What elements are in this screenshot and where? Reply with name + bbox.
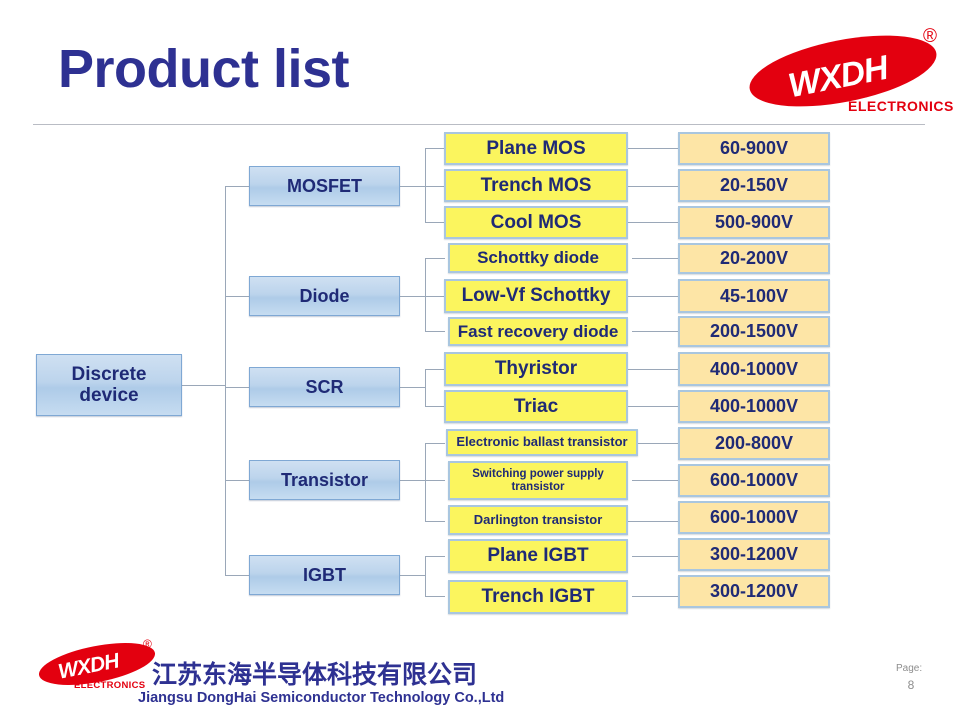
footer-company-name-cn: 江苏东海半导体科技有限公司 (152, 655, 477, 691)
node-product-label: Darlington transistor (474, 513, 603, 528)
connector-leaf-to-voltage-8 (628, 406, 678, 407)
connector-igbt-leaf-2 (425, 596, 445, 597)
node-voltage-schottky-diode[interactable]: 20-200V (678, 243, 830, 274)
node-voltage-label: 500-900V (715, 212, 793, 232)
connector-scr-spine (425, 369, 426, 406)
node-product-label: Thyristor (495, 358, 577, 379)
connector-transistor-leaf-3 (425, 521, 445, 522)
footer-company-name-en: Jiangsu DongHai Semiconductor Technology… (138, 690, 504, 706)
connector-diode-leaf-1 (425, 258, 445, 259)
node-voltage-label: 60-900V (720, 138, 788, 158)
node-product-cool-mos[interactable]: Cool MOS (444, 206, 628, 239)
node-category-transistor[interactable]: Transistor (249, 460, 400, 500)
node-discrete-device-line2: device (79, 385, 138, 406)
node-category-transistor-label: Transistor (281, 470, 368, 490)
node-voltage-electronic-ballast-transistor[interactable]: 200-800V (678, 427, 830, 460)
node-product-thyristor[interactable]: Thyristor (444, 352, 628, 386)
connector-diode-out (400, 296, 426, 297)
node-voltage-label: 600-1000V (710, 470, 798, 490)
slide-canvas: Product list WXDH ELECTRONICS ® (0, 0, 960, 720)
node-voltage-label: 45-100V (720, 286, 788, 306)
node-product-label: Fast recovery diode (458, 322, 619, 341)
node-product-label: Trench MOS (481, 175, 592, 196)
node-discrete-device[interactable]: Discrete device (36, 354, 182, 416)
connector-leaf-to-voltage-9 (638, 443, 678, 444)
node-voltage-trench-mos[interactable]: 20-150V (678, 169, 830, 202)
connector-leaf-to-voltage-7 (628, 369, 678, 370)
connector-leaf-to-voltage-2 (628, 186, 678, 187)
page-number: 8 (896, 678, 926, 692)
node-product-fast-recovery-diode[interactable]: Fast recovery diode (448, 317, 628, 346)
registered-trademark-icon: ® (923, 26, 937, 48)
node-product-triac[interactable]: Triac (444, 390, 628, 423)
connector-spine-to-igbt (225, 575, 249, 576)
node-voltage-label: 600-1000V (710, 507, 798, 527)
connector-spine-to-diode (225, 296, 249, 297)
node-category-diode[interactable]: Diode (249, 276, 400, 316)
node-discrete-device-line1: Discrete (72, 364, 147, 385)
node-voltage-low-vf-schottky[interactable]: 45-100V (678, 279, 830, 313)
node-product-label: Electronic ballast transistor (456, 435, 627, 450)
connector-igbt-out (400, 575, 426, 576)
node-category-mosfet[interactable]: MOSFET (249, 166, 400, 206)
node-voltage-label: 400-1000V (710, 396, 798, 416)
node-category-igbt-label: IGBT (303, 565, 346, 585)
page-label: Page: (896, 663, 922, 674)
node-voltage-plane-mos[interactable]: 60-900V (678, 132, 830, 165)
node-voltage-fast-recovery-diode[interactable]: 200-1500V (678, 316, 830, 347)
connector-leaf-to-voltage-1 (628, 148, 678, 149)
connector-mosfet-out (400, 186, 426, 187)
node-voltage-triac[interactable]: 400-1000V (678, 390, 830, 423)
registered-trademark-icon: ® (143, 637, 152, 651)
connector-diode-leaf-3 (425, 331, 445, 332)
connector-igbt-spine (425, 556, 426, 596)
connector-igbt-leaf-1 (425, 556, 445, 557)
node-voltage-label: 20-150V (720, 175, 788, 195)
logo-subtitle: ELECTRONICS (74, 680, 145, 691)
connector-mosfet-leaf-3 (425, 222, 445, 223)
node-product-label: Low-Vf Schottky (462, 285, 611, 306)
node-category-scr[interactable]: SCR (249, 367, 400, 407)
connector-leaf-to-voltage-12 (632, 556, 678, 557)
connector-spine-to-scr (225, 387, 249, 388)
node-voltage-label: 400-1000V (710, 359, 798, 379)
node-product-label: Cool MOS (491, 212, 582, 233)
connector-scr-leaf-1 (425, 369, 445, 370)
node-product-label: Plane IGBT (487, 545, 588, 566)
connector-leaf-to-voltage-4 (632, 258, 678, 259)
connector-mosfet-leaf-1 (425, 148, 445, 149)
node-product-label: Plane MOS (486, 138, 585, 159)
node-voltage-label: 300-1200V (710, 544, 798, 564)
node-product-plane-igbt[interactable]: Plane IGBT (448, 539, 628, 573)
node-category-diode-label: Diode (299, 286, 349, 306)
node-voltage-switching-power-supply-transistor[interactable]: 600-1000V (678, 464, 830, 497)
node-product-plane-mos[interactable]: Plane MOS (444, 132, 628, 165)
node-product-label: Schottky diode (477, 248, 599, 267)
page-title: Product list (58, 42, 349, 96)
node-product-trench-mos[interactable]: Trench MOS (444, 169, 628, 202)
connector-mosfet-leaf-2 (425, 186, 445, 187)
node-voltage-thyristor[interactable]: 400-1000V (678, 352, 830, 386)
connector-spine-to-transistor (225, 480, 249, 481)
node-product-label: Trench IGBT (482, 586, 595, 607)
node-voltage-trench-igbt[interactable]: 300-1200V (678, 575, 830, 608)
node-category-scr-label: SCR (305, 377, 343, 397)
node-voltage-label: 200-800V (715, 433, 793, 453)
connector-transistor-leaf-2 (425, 480, 445, 481)
connector-leaf-to-voltage-3 (628, 222, 678, 223)
node-voltage-label: 200-1500V (710, 321, 798, 341)
connector-leaf-to-voltage-13 (632, 596, 678, 597)
node-product-schottky-diode[interactable]: Schottky diode (448, 243, 628, 273)
connector-transistor-spine (425, 443, 426, 521)
connector-leaf-to-voltage-5 (628, 296, 678, 297)
node-product-trench-igbt[interactable]: Trench IGBT (448, 580, 628, 614)
node-category-mosfet-label: MOSFET (287, 176, 362, 196)
connector-root-stub (182, 385, 225, 386)
connector-diode-leaf-2 (425, 296, 445, 297)
connector-transistor-out (400, 480, 426, 481)
logo-subtitle: ELECTRONICS (848, 98, 954, 114)
node-product-switching-power-supply-transistor[interactable]: Switching power supply transistor (448, 461, 628, 500)
node-product-low-vf-schottky[interactable]: Low-Vf Schottky (444, 279, 628, 313)
node-voltage-darlington-transistor[interactable]: 600-1000V (678, 501, 830, 534)
connector-leaf-to-voltage-10 (632, 480, 678, 481)
node-voltage-cool-mos[interactable]: 500-900V (678, 206, 830, 239)
connector-transistor-leaf-1 (425, 443, 445, 444)
connector-scr-out (400, 387, 426, 388)
node-voltage-plane-igbt[interactable]: 300-1200V (678, 538, 830, 571)
node-product-darlington-transistor[interactable]: Darlington transistor (448, 505, 628, 535)
node-product-label: Triac (514, 396, 558, 417)
header-divider (33, 124, 925, 125)
connector-diode-spine (425, 258, 426, 331)
node-category-igbt[interactable]: IGBT (249, 555, 400, 595)
connector-leaf-to-voltage-11 (628, 521, 678, 522)
node-product-label: Switching power supply transistor (458, 468, 618, 494)
connector-scr-leaf-2 (425, 406, 445, 407)
header-logo: WXDH ELECTRONICS ® (740, 26, 950, 118)
node-voltage-label: 20-200V (720, 248, 788, 268)
node-voltage-label: 300-1200V (710, 581, 798, 601)
connector-spine-to-mosfet (225, 186, 249, 187)
node-product-electronic-ballast-transistor[interactable]: Electronic ballast transistor (446, 429, 638, 456)
connector-main-spine (225, 186, 226, 576)
connector-leaf-to-voltage-6 (632, 331, 678, 332)
